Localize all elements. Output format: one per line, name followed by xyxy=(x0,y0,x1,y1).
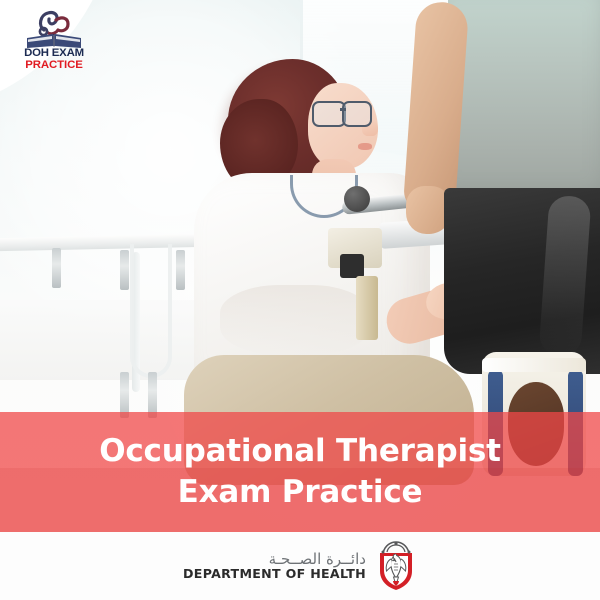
doh-exam-practice-logo[interactable]: DOH EXAM PRACTICE xyxy=(16,6,92,78)
poster-canvas: DOH EXAM PRACTICE Occupational Therapist… xyxy=(0,0,600,600)
glasses-lens-left xyxy=(312,101,346,127)
logo-line-2: PRACTICE xyxy=(16,60,92,72)
footer: دائــرة الصــحـة DEPARTMENT OF HEALTH xyxy=(0,532,600,600)
device-clamp xyxy=(340,254,364,278)
logo-line-1: DOH EXAM xyxy=(16,48,92,60)
rail-hook xyxy=(52,248,61,288)
glasses-lens-right xyxy=(342,101,372,127)
poster-title-line-2: Exam Practice xyxy=(178,473,423,512)
title-banner: Occupational Therapist Exam Practice xyxy=(0,412,600,532)
stethoscope-book-icon xyxy=(22,6,86,50)
doh-arabic-name: دائــرة الصــحـة xyxy=(269,552,366,568)
device-post xyxy=(356,276,378,340)
patient-tshirt xyxy=(448,0,600,196)
title-banner-content: Occupational Therapist Exam Practice xyxy=(0,412,600,532)
rail-hook xyxy=(120,250,129,290)
standing-patient xyxy=(404,0,600,466)
doh-english-name: DEPARTMENT OF HEALTH xyxy=(183,567,366,580)
logo-wordmark: DOH EXAM PRACTICE xyxy=(16,48,92,71)
department-of-health-logo[interactable]: دائــرة الصــحـة DEPARTMENT OF HEALTH xyxy=(183,541,417,591)
therapy-sling xyxy=(130,244,172,378)
abu-dhabi-falcon-emblem-icon xyxy=(375,541,417,591)
doh-wordmark: دائــرة الصــحـة DEPARTMENT OF HEALTH xyxy=(183,552,366,581)
poster-title-line-1: Occupational Therapist xyxy=(99,432,501,471)
glasses-bridge xyxy=(340,108,346,111)
device-knob xyxy=(344,186,370,212)
knee-brace-strap xyxy=(482,358,586,372)
therapist-mouth xyxy=(358,143,372,150)
rail-hook xyxy=(176,250,185,290)
